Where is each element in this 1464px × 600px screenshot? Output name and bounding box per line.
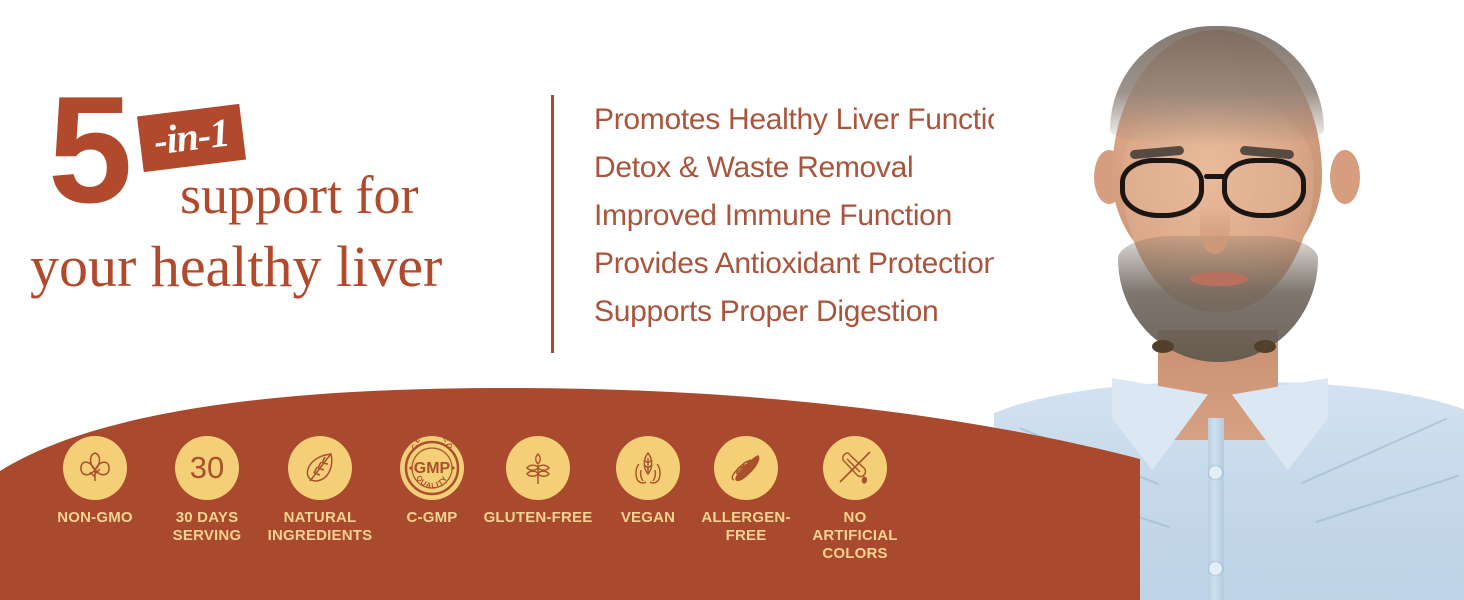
badge-label: NO ARTIFICIAL COLORS — [795, 509, 915, 563]
badge-label: 30 DAYS SERVING — [147, 509, 267, 545]
vertical-divider — [551, 95, 554, 353]
badge-allergen-free[interactable]: ALLERGEN- FREE — [686, 436, 806, 545]
badge-no-artificial-colors[interactable]: NO ARTIFICIAL COLORS — [795, 436, 915, 563]
model-photo — [994, 0, 1464, 600]
badge-30-days-serving[interactable]: 30 30 DAYS SERVING — [147, 436, 267, 545]
beard — [1118, 236, 1318, 362]
hands-leaf-icon — [616, 436, 680, 500]
trust-badges-row: NON-GMO 30 30 DAYS SERVING NATURAL INGRE… — [0, 420, 950, 600]
headline-number: 5 — [48, 74, 129, 226]
headline-block: 5 -in-1 support for your healthy liver — [30, 88, 530, 318]
peanut-pod-icon — [714, 436, 778, 500]
ear — [1330, 150, 1360, 204]
eyeglasses-icon — [1114, 158, 1328, 220]
wheat-icon — [506, 436, 570, 500]
badge-label: GLUTEN-FREE — [478, 509, 598, 527]
shirt-button — [1209, 562, 1222, 575]
badge-non-gmo[interactable]: NON-GMO — [35, 436, 155, 527]
shirt-button — [1209, 466, 1222, 479]
no-dropper-icon — [823, 436, 887, 500]
badge-label: NON-GMO — [35, 509, 155, 527]
gmp-seal-icon: CERTIFIED QUALITY GMP — [400, 436, 464, 500]
badge-label: NATURAL INGREDIENTS — [260, 509, 380, 545]
product-banner: 5 -in-1 support for your healthy liver P… — [0, 0, 1464, 600]
badge-gluten-free[interactable]: GLUTEN-FREE — [478, 436, 598, 527]
hair — [1110, 26, 1324, 146]
headline-in1-tag: -in-1 — [137, 104, 246, 172]
butterfly-leaf-icon — [63, 436, 127, 500]
leaf-icon — [288, 436, 352, 500]
badge-label: C-GMP — [372, 509, 492, 527]
badge-label: ALLERGEN- FREE — [686, 509, 806, 545]
badge-number: 30 — [190, 450, 224, 485]
gmp-center-text: GMP — [414, 460, 451, 477]
headline-line-1: support for — [180, 166, 418, 224]
badge-c-gmp[interactable]: CERTIFIED QUALITY GMP C-GMP — [372, 436, 492, 527]
badge-natural-ingredients[interactable]: NATURAL INGREDIENTS — [260, 436, 380, 545]
lips — [1190, 272, 1248, 286]
headline-line-2: your healthy liver — [30, 236, 442, 298]
days-count-icon: 30 — [175, 436, 239, 500]
